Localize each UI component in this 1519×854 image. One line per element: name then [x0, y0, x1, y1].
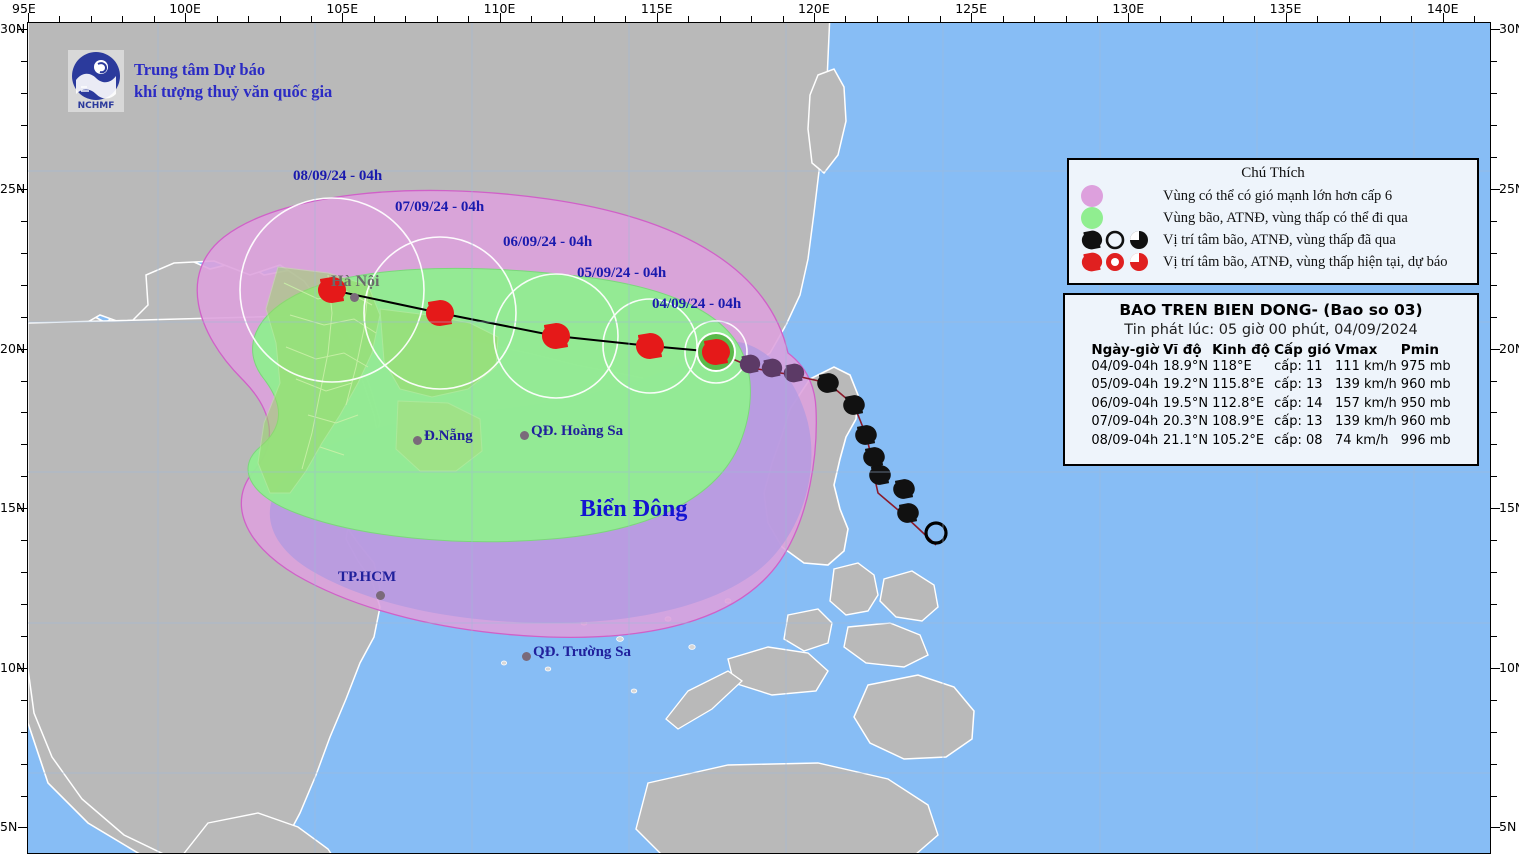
forecast-table: Ngày-giờ Vĩ độ Kinh độ Cấp gió Vmax Pmin…: [1089, 342, 1452, 450]
forecast-date-label-07: 07/09/24 - 04h: [395, 199, 484, 216]
circle-green-icon: [1081, 207, 1103, 229]
agency-name-line1: Trung tâm Dự báo: [134, 59, 332, 81]
city-label-danang: Đ.Nẵng: [424, 428, 473, 445]
city-label-hanoi: Hà Nội: [331, 273, 379, 291]
table-row: 08/09-04h21.1°N105.2°Ecấp: 0874 km/h996 …: [1089, 432, 1452, 450]
cell-vmax: 139 km/h: [1333, 413, 1399, 431]
cell-cat: cấp: 13: [1272, 413, 1333, 431]
cell-cat: cấp: 13: [1272, 376, 1333, 394]
bulletin-time: Tin phát lúc: 05 giờ 00 phút, 04/09/2024: [1065, 322, 1477, 338]
forecast-date-label-08: 08/09/24 - 04h: [293, 168, 382, 185]
legend-text-past-positions: Vị trí tâm bão, ATNĐ, vùng thấp đã qua: [1163, 232, 1396, 249]
cell-datetime: 07/09-04h: [1089, 413, 1161, 431]
cell-datetime: 08/09-04h: [1089, 432, 1161, 450]
table-row: 05/09-04h19.2°N115.8°Ecấp: 13139 km/h960…: [1089, 376, 1452, 394]
cell-cat: cấp: 14: [1272, 395, 1333, 413]
agency-name: Trung tâm Dự báo khí tượng thuỷ văn quốc…: [134, 59, 332, 104]
legend-swatch-black-symbols: [1081, 229, 1163, 251]
col-pmin: Pmin: [1399, 342, 1453, 358]
cell-datetime: 04/09-04h: [1089, 358, 1161, 376]
latitude-axis-right: [1491, 0, 1519, 854]
cell-vmax: 139 km/h: [1333, 376, 1399, 394]
storm-title: BAO TREN BIEN DONG- (Bao so 03): [1065, 301, 1477, 319]
legend-swatch-green: [1081, 207, 1163, 229]
cell-lat: 21.1°N: [1161, 432, 1210, 450]
cell-pmin: 996 mb: [1399, 432, 1453, 450]
forecast-date-label-06: 06/09/24 - 04h: [503, 234, 592, 251]
cell-lon: 118°E: [1210, 358, 1272, 376]
legend-row-path-zone: Vùng bão, ATNĐ, vùng thấp có thể đi qua: [1069, 207, 1477, 229]
cell-cat: cấp: 08: [1272, 432, 1333, 450]
table-row: 04/09-04h18.9°N118°Ecấp: 11111 km/h975 m…: [1089, 358, 1452, 376]
city-label-truongsa: QĐ. Trường Sa: [533, 644, 631, 661]
city-dot-truongsa: [522, 652, 531, 661]
cell-lon: 115.8°E: [1210, 376, 1272, 394]
cell-datetime: 05/09-04h: [1089, 376, 1161, 394]
city-dot-tphcm: [376, 591, 385, 600]
table-row: 07/09-04h20.3°N108.9°Ecấp: 13139 km/h960…: [1089, 413, 1452, 431]
legend-text-gale-zone: Vùng có thể có gió mạnh lớn hơn cấp 6: [1163, 188, 1392, 205]
city-dot-danang: [413, 436, 422, 445]
cell-lon: 112.8°E: [1210, 395, 1272, 413]
cell-vmax: 74 km/h: [1333, 432, 1399, 450]
typhoon-forecast-map-page: 08/09/24 - 04h 07/09/24 - 04h 06/09/24 -…: [0, 0, 1519, 854]
forecast-date-label-04: 04/09/24 - 04h: [652, 296, 741, 313]
agency-name-line2: khí tượng thuỷ văn quốc gia: [134, 81, 332, 103]
sea-label-bien-dong: Biển Đông: [580, 496, 687, 523]
table-row: 06/09-04h19.5°N112.8°Ecấp: 14157 km/h950…: [1089, 395, 1452, 413]
legend-swatch-violet: [1081, 185, 1163, 207]
forecast-date-label-05: 05/09/24 - 04h: [577, 265, 666, 282]
cell-vmax: 111 km/h: [1333, 358, 1399, 376]
cell-cat: cấp: 11: [1272, 358, 1333, 376]
legend-panel: Chú Thích Vùng có thể có gió mạnh lớn hơ…: [1067, 158, 1479, 285]
circle-violet-icon: [1081, 185, 1103, 207]
cell-lon: 105.2°E: [1210, 432, 1272, 450]
col-lon: Kinh độ: [1210, 342, 1272, 358]
cell-lat: 18.9°N: [1161, 358, 1210, 376]
cell-datetime: 06/09-04h: [1089, 395, 1161, 413]
cell-lat: 19.5°N: [1161, 395, 1210, 413]
cell-vmax: 157 km/h: [1333, 395, 1399, 413]
cell-lat: 19.2°N: [1161, 376, 1210, 394]
table-body: 04/09-04h18.9°N118°Ecấp: 11111 km/h975 m…: [1089, 358, 1452, 450]
col-lat: Vĩ độ: [1161, 342, 1210, 358]
city-dot-hoangsa: [520, 431, 529, 440]
col-datetime: Ngày-giờ: [1089, 342, 1161, 358]
legend-row-current-positions: Vị trí tâm bão, ATNĐ, vùng thấp hiện tại…: [1069, 251, 1477, 273]
legend-text-current-positions: Vị trí tâm bão, ATNĐ, vùng thấp hiện tại…: [1163, 254, 1448, 271]
storm-info-panel: BAO TREN BIEN DONG- (Bao so 03) Tin phát…: [1063, 293, 1479, 466]
col-category: Cấp gió: [1272, 342, 1333, 358]
cell-pmin: 960 mb: [1399, 413, 1453, 431]
city-label-tphcm: TP.HCM: [338, 569, 396, 586]
svg-text:NCHMF: NCHMF: [78, 101, 115, 111]
legend-row-gale-zone: Vùng có thể có gió mạnh lớn hơn cấp 6: [1069, 185, 1477, 207]
table-header-row: Ngày-giờ Vĩ độ Kinh độ Cấp gió Vmax Pmin: [1089, 342, 1452, 358]
agency-branding: NCHMF Trung tâm Dự báo khí tượng thuỷ vă…: [68, 50, 332, 112]
nchmf-logo-icon: NCHMF: [68, 50, 124, 112]
cell-pmin: 960 mb: [1399, 376, 1453, 394]
cell-lon: 108.9°E: [1210, 413, 1272, 431]
city-label-hoangsa: QĐ. Hoàng Sa: [531, 423, 623, 440]
legend-row-past-positions: Vị trí tâm bão, ATNĐ, vùng thấp đã qua: [1069, 229, 1477, 251]
cell-pmin: 950 mb: [1399, 395, 1453, 413]
city-dot-hanoi: [350, 293, 359, 302]
longitude-axis: [0, 0, 1519, 22]
cell-pmin: 975 mb: [1399, 358, 1453, 376]
latitude-axis-left: [0, 0, 27, 854]
col-vmax: Vmax: [1333, 342, 1399, 358]
legend-swatch-red-symbols: [1081, 251, 1163, 273]
legend-text-path-zone: Vùng bão, ATNĐ, vùng thấp có thể đi qua: [1163, 210, 1408, 227]
cell-lat: 20.3°N: [1161, 413, 1210, 431]
legend-title: Chú Thích: [1069, 165, 1477, 182]
